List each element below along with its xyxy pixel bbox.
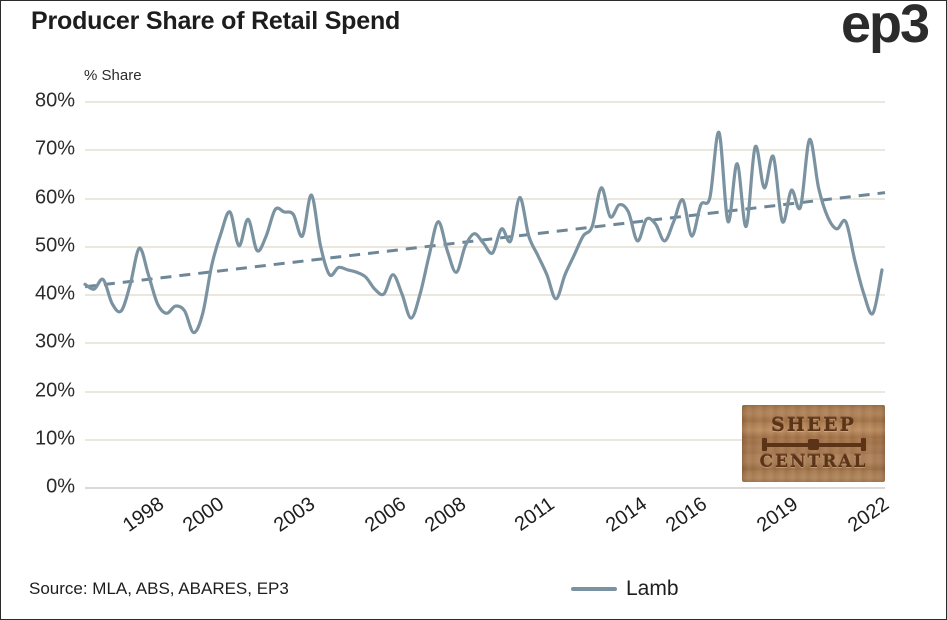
source-note: Source: MLA, ABS, ABARES, EP3 [29, 579, 289, 599]
y-tick-label: 80% [35, 90, 75, 113]
legend-swatch-lamb [571, 587, 617, 591]
y-tick-label: 20% [35, 379, 75, 402]
x-axis-ticks: 1998200020032006200820112014201620192022 [85, 493, 885, 553]
x-tick-label: 2000 [179, 493, 229, 537]
legend: Lamb [571, 577, 679, 601]
x-tick-label: 2014 [602, 493, 652, 537]
y-tick-label: 10% [35, 427, 75, 450]
series-line-lamb [85, 132, 882, 332]
gridline [85, 487, 885, 489]
watermark-line-1: SHEEP [771, 416, 856, 435]
x-tick-label: 2011 [511, 493, 559, 537]
x-tick-label: 2019 [753, 493, 803, 537]
x-tick-label: 2006 [361, 493, 411, 537]
y-axis-title: % Share [84, 67, 142, 84]
y-tick-label: 60% [35, 186, 75, 209]
x-tick-label: 1998 [119, 493, 169, 537]
y-tick-label: 40% [35, 283, 75, 306]
x-tick-label: 2003 [270, 493, 320, 537]
x-tick-label: 2008 [421, 493, 471, 537]
sheep-central-watermark: SHEEP CENTRAL [742, 405, 885, 482]
y-tick-label: 50% [35, 234, 75, 257]
legend-label-lamb: Lamb [626, 577, 679, 601]
page-title: Producer Share of Retail Spend [31, 7, 400, 36]
y-tick-label: 30% [35, 331, 75, 354]
y-tick-label: 0% [46, 476, 75, 499]
branding-iron-icon [762, 438, 866, 451]
x-tick-label: 2022 [844, 493, 894, 537]
y-tick-label: 70% [35, 138, 75, 161]
chart-figure: Producer Share of Retail Spend ep3 % Sha… [0, 0, 947, 620]
ep3-logo: ep3 [841, 0, 928, 51]
watermark-line-2: CENTRAL [760, 454, 868, 471]
trendline-lamb [85, 193, 885, 287]
y-axis-ticks: 80%70%60%50%40%30%20%10%0% [1, 101, 75, 487]
x-tick-label: 2016 [662, 493, 712, 537]
